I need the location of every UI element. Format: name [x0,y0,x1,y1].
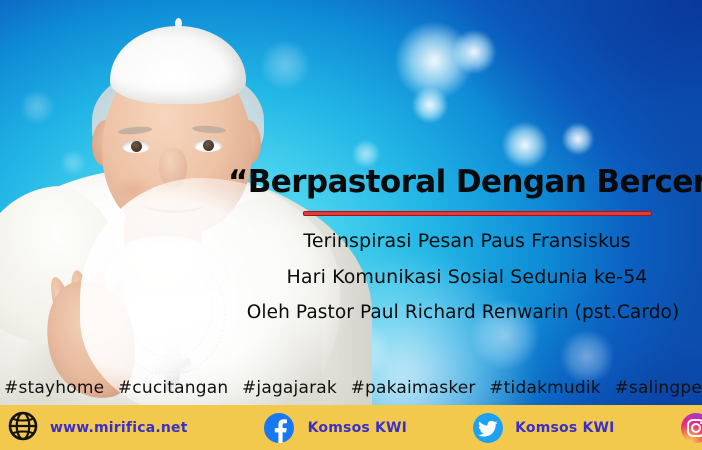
footer-twitter[interactable]: Komsos KWI [473,405,614,450]
globe-icon [8,411,38,445]
poster-canvas: “Berpastoral Dengan Bercerita” Terinspir… [0,0,702,450]
hashtag-row: #stayhome #cucitangan #jagajarak #pakaim… [0,378,702,398]
hashtag-jagajarak: #jagajarak [242,378,337,398]
mouth [144,196,204,213]
footer-twitter-label: Komsos KWI [515,420,614,436]
subtitle-line-3: Oleh Pastor Paul Richard Renwarin (pst.C… [232,302,694,323]
page-title: “Berpastoral Dengan Bercerita” [228,162,694,202]
footer-instagram[interactable]: Komsos KWI [681,405,702,450]
title-underline [303,211,652,216]
footer-bar: www.mirifica.net Komsos KWI Komsos KWI [0,405,702,450]
footer-website-label: www.mirifica.net [50,420,188,436]
hashtag-stayhome: #stayhome [4,378,104,398]
footer-facebook-label: Komsos KWI [308,420,407,436]
nose [159,148,187,188]
hashtag-cucitangan: #cucitangan [118,378,228,398]
instagram-icon [681,413,702,443]
hashtag-tidakmudik: #tidakmudik [489,378,601,398]
hashtag-salingpeduli: #salingpeduli [614,378,702,398]
subtitle-line-2: Hari Komunikasi Sosial Sedunia ke-54 [236,266,698,288]
zucchetto-cap [110,26,246,104]
footer-website[interactable]: www.mirifica.net [8,405,188,450]
facebook-icon [264,413,294,443]
eye-left [122,140,150,153]
twitter-icon [473,413,503,443]
footer-facebook[interactable]: Komsos KWI [264,405,407,450]
pope-francis-photo [0,0,332,408]
pectoral-chain [126,258,214,358]
subtitle-line-1: Terinspirasi Pesan Paus Fransiskus [236,230,698,252]
zucchetto-nub [175,18,182,29]
eye-right [194,139,222,152]
hashtag-pakaimasker: #pakaimasker [351,378,476,398]
